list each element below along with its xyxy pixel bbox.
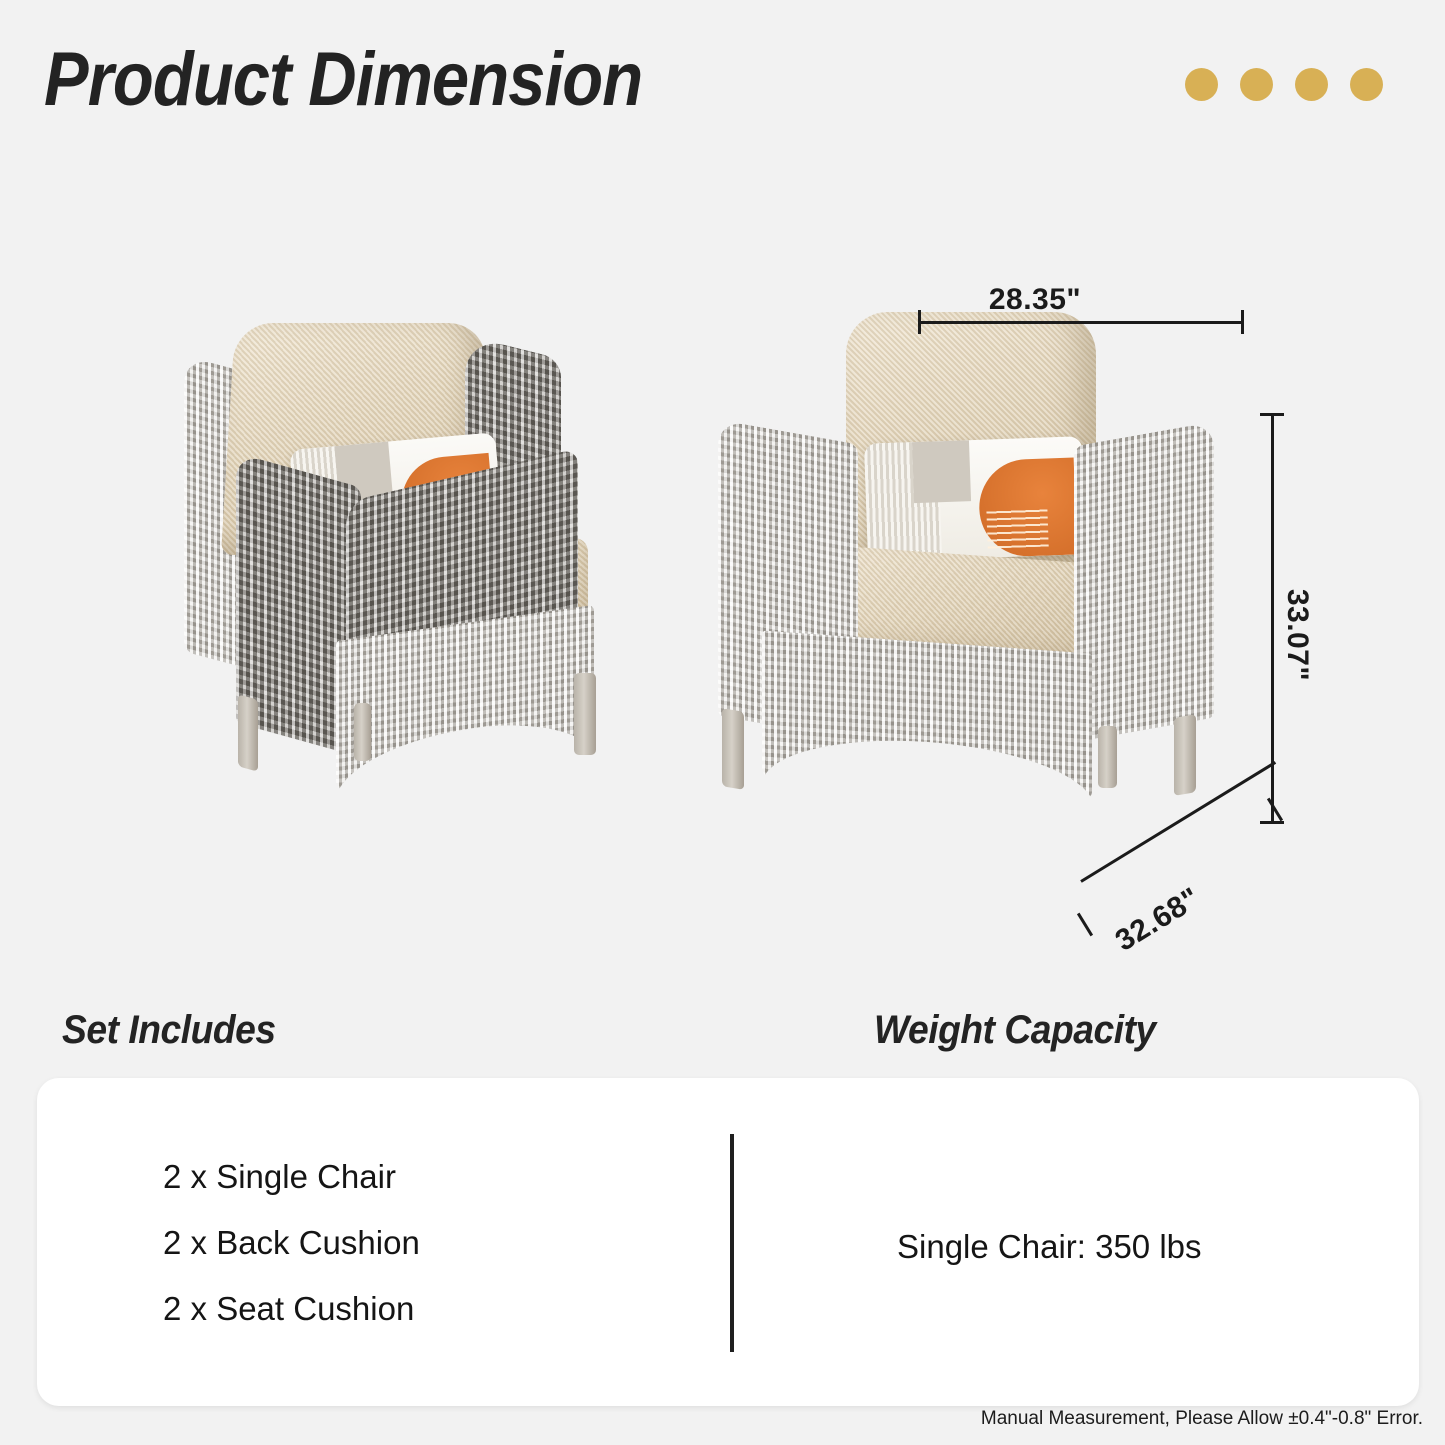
- width-dimension-cap-right: [1241, 310, 1244, 334]
- chair-right-leg-right: [1174, 714, 1196, 796]
- weight-capacity-heading: Weight Capacity: [874, 1008, 1156, 1053]
- infographic-canvas: Product Dimension: [0, 0, 1445, 1445]
- dot-icon-1: [1185, 68, 1218, 101]
- height-dimension-cap-top: [1260, 413, 1284, 416]
- width-dimension-label: 28.35": [989, 283, 1081, 317]
- list-item: 2 x Seat Cushion: [163, 1290, 420, 1328]
- chair-left-leg-front-right: [574, 673, 596, 755]
- chair-left-leg-front-left: [238, 694, 258, 771]
- chair-right-leg-left: [722, 708, 744, 790]
- set-includes-heading: Set Includes: [62, 1008, 276, 1053]
- width-dimension-cap-left: [918, 310, 921, 334]
- page-title: Product Dimension: [44, 42, 642, 118]
- list-item: 2 x Back Cushion: [163, 1224, 420, 1262]
- pillow-grey-panel: [912, 440, 971, 503]
- list-item: 2 x Single Chair: [163, 1158, 420, 1196]
- chair-right-arm-right: [1074, 422, 1214, 743]
- set-includes-list: 2 x Single Chair 2 x Back Cushion 2 x Se…: [163, 1158, 420, 1328]
- chair-left-leg-back: [354, 703, 371, 761]
- height-dimension-label: 33.07": [1280, 589, 1314, 681]
- chair-right-accent-pillow: [864, 436, 1086, 562]
- chair-right-image: [706, 302, 1226, 882]
- measurement-disclaimer: Manual Measurement, Please Allow ±0.4"-0…: [981, 1408, 1423, 1430]
- pillow-line-detail: [986, 506, 1048, 548]
- chair-left-image: [176, 305, 666, 865]
- chair-right-leg-back: [1098, 726, 1117, 788]
- decorative-dots: [1185, 68, 1383, 101]
- dot-icon-4: [1350, 68, 1383, 101]
- dot-icon-2: [1240, 68, 1273, 101]
- card-divider: [730, 1134, 734, 1352]
- width-dimension-line: [918, 321, 1244, 324]
- product-illustration: [0, 250, 1445, 990]
- dot-icon-3: [1295, 68, 1328, 101]
- weight-capacity-value: Single Chair: 350 lbs: [897, 1228, 1202, 1266]
